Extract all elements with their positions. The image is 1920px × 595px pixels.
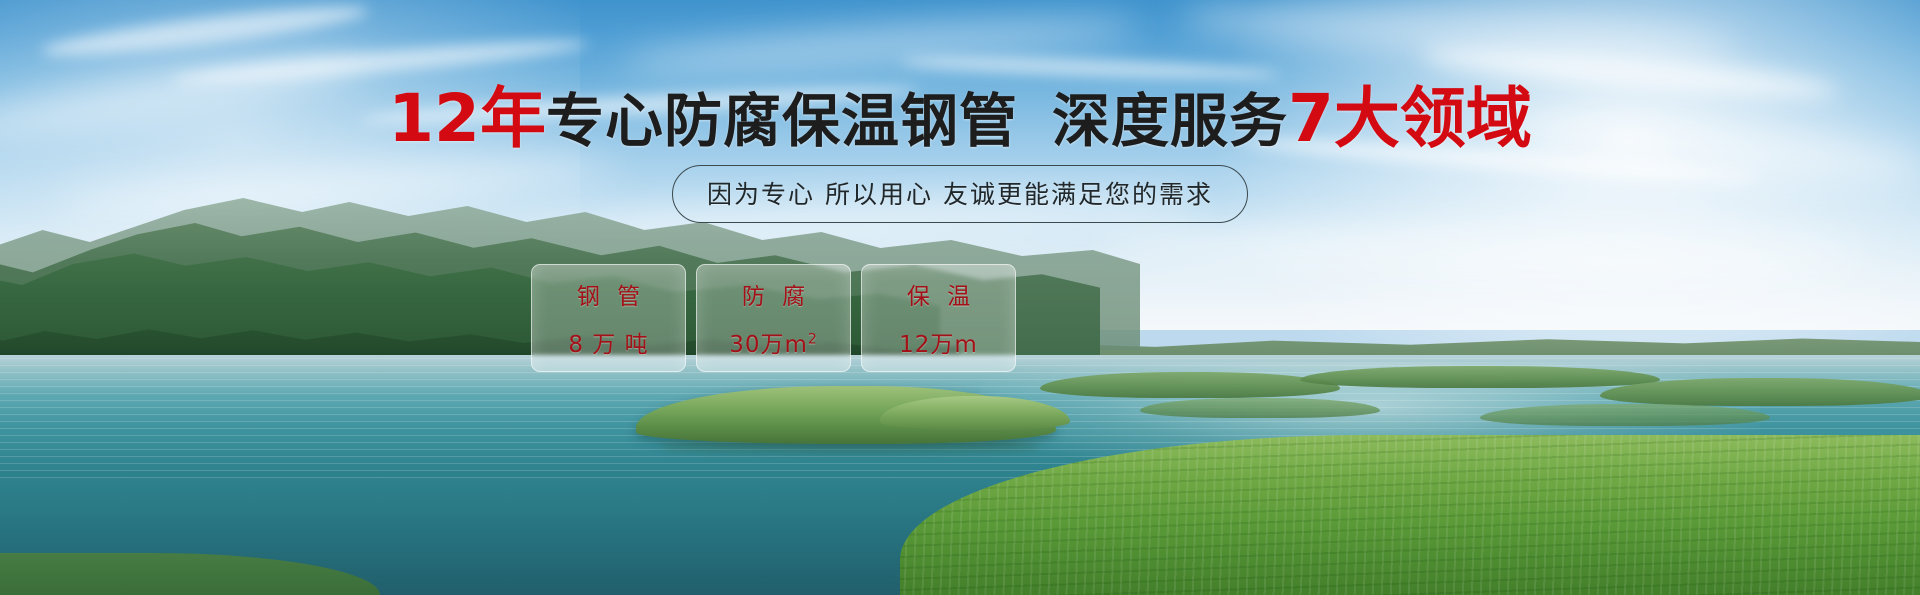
stat-card-value-superscript: 2 bbox=[808, 331, 818, 347]
stat-card-value: 12万m bbox=[899, 325, 978, 359]
headline-fields-unit: 大领域 bbox=[1334, 80, 1532, 157]
stat-card-insulation[interactable]: 保 温 12万m bbox=[861, 264, 1016, 372]
stat-card-anticorrosion[interactable]: 防 腐 30万m2 bbox=[696, 264, 851, 372]
headline-years-number: 12 bbox=[388, 80, 480, 157]
stat-card-value: 8 万 吨 bbox=[568, 325, 648, 359]
stat-cards: 钢 管 8 万 吨 防 腐 30万m2 保 温 12万m bbox=[531, 264, 1016, 372]
headline-years-unit: 年 bbox=[480, 80, 546, 157]
reed-patch bbox=[1600, 378, 1920, 406]
stat-card-value: 30万m2 bbox=[729, 325, 818, 359]
reed-patch bbox=[1140, 398, 1380, 418]
stat-card-value-main: 30万m bbox=[729, 332, 808, 358]
stat-card-label: 钢 管 bbox=[572, 277, 645, 311]
stat-card-steel-pipe[interactable]: 钢 管 8 万 吨 bbox=[531, 264, 686, 372]
banner-subtitle: 因为专心 所以用心 友诚更能满足您的需求 bbox=[672, 165, 1248, 223]
reed-patch bbox=[1040, 372, 1340, 398]
headline-fields-number: 7 bbox=[1288, 80, 1334, 157]
headline-service-text: 深度服务 bbox=[1052, 87, 1288, 155]
banner-headline: 12年专心防腐保温钢管深度服务7大领域 bbox=[0, 86, 1920, 152]
hero-banner: 12年专心防腐保温钢管深度服务7大领域 因为专心 所以用心 友诚更能满足您的需求… bbox=[0, 0, 1920, 595]
reed-patch bbox=[1300, 366, 1660, 388]
headline-main-text: 专心防腐保温钢管 bbox=[546, 87, 1018, 155]
banner-subtitle-wrap: 因为专心 所以用心 友诚更能满足您的需求 bbox=[0, 165, 1920, 223]
reed-patch bbox=[1480, 404, 1770, 426]
stat-card-label: 防 腐 bbox=[737, 277, 810, 311]
stat-card-label: 保 温 bbox=[902, 277, 975, 311]
